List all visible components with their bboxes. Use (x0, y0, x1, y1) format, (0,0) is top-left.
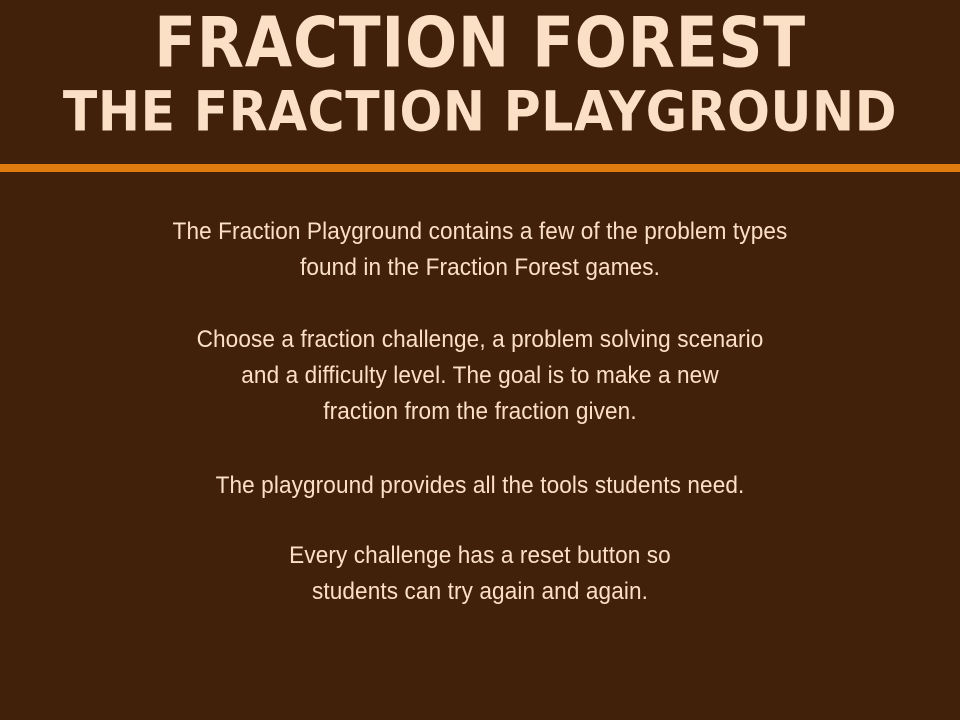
slide-body: The Fraction Playground contains a few o… (0, 172, 960, 720)
body-line: Every challenge has a reset button so (29, 538, 931, 574)
body-line: found in the Fraction Forest games. (29, 250, 931, 286)
page-subtitle: The Fraction Playground (24, 81, 936, 145)
body-line: students can try again and again. (29, 574, 931, 610)
body-line: fraction from the fraction given. (29, 394, 931, 430)
body-paragraph: The playground provides all the tools st… (29, 468, 931, 504)
body-line: The playground provides all the tools st… (29, 468, 931, 504)
body-line: The Fraction Playground contains a few o… (29, 214, 931, 250)
slide-header: Fraction Forest The Fraction Playground (0, 0, 960, 164)
header-divider-rule (0, 164, 960, 172)
page-title: Fraction Forest (34, 2, 927, 85)
body-paragraph: Choose a fraction challenge, a problem s… (29, 322, 931, 430)
body-paragraph: Every challenge has a reset button so st… (29, 538, 931, 610)
slide-root: Fraction Forest The Fraction Playground … (0, 0, 960, 720)
body-paragraph: The Fraction Playground contains a few o… (29, 214, 931, 286)
body-line: and a difficulty level. The goal is to m… (29, 358, 931, 394)
body-line: Choose a fraction challenge, a problem s… (29, 322, 931, 358)
